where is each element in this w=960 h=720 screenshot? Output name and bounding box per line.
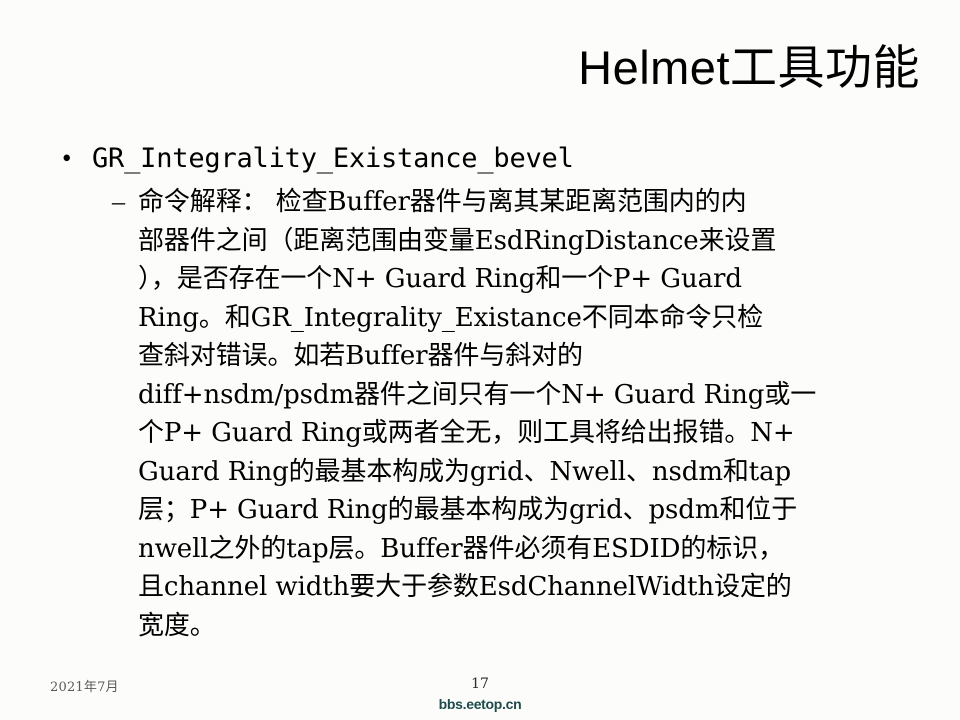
slide-body: • GR_Integrality_Existance_bevel – 命令解释：… (0, 140, 960, 645)
bullet-level1: • GR_Integrality_Existance_bevel (0, 140, 960, 177)
bullet-dot-icon: • (62, 140, 92, 176)
body-line: 部器件之间（距离范围由变量EsdRingDistance来设置 (138, 222, 960, 261)
watermark: bbs.eetop.cn (0, 696, 960, 712)
body-line: ），是否存在一个N+ Guard Ring和一个P+ Guard (138, 260, 960, 299)
page-title: Helmet工具功能 (578, 43, 920, 92)
bullet-level2: – 命令解释： 检查Buffer器件与离其某距离范围内的内 部器件之间（距离范围… (0, 183, 960, 645)
body-line: Guard Ring的最基本构成为grid、Nwell、nsdm和tap (138, 453, 960, 492)
body-line: diff+nsdm/psdm器件之间只有一个N+ Guard Ring或一 (138, 376, 960, 415)
body-line: Ring。和GR_Integrality_Existance不同本命令只检 (138, 299, 960, 338)
body-line: 层；P+ Guard Ring的最基本构成为grid、psdm和位于 (138, 491, 960, 530)
bullet-dash-icon: – (112, 183, 138, 222)
body-line: nwell之外的tap层。Buffer器件必须有ESDID的标识， (138, 530, 960, 569)
body-line: 查斜对错误。如若Buffer器件与斜对的 (138, 337, 960, 376)
bullet-level2-lines: 命令解释： 检查Buffer器件与离其某距离范围内的内 部器件之间（距离范围由变… (138, 183, 960, 645)
body-line: 命令解释： 检查Buffer器件与离其某距离范围内的内 (138, 183, 960, 222)
body-line: 且channel width要大于参数EsdChannelWidth设定的 (138, 568, 960, 607)
title-area: Helmet工具功能 (40, 28, 920, 108)
body-line: 个P+ Guard Ring或两者全无，则工具将给出报错。N+ (138, 414, 960, 453)
bullet-level1-label: GR_Integrality_Existance_bevel (92, 141, 574, 177)
slide-canvas: Helmet工具功能 • GR_Integrality_Existance_be… (0, 0, 960, 720)
page-number: 17 (0, 676, 960, 692)
body-line: 宽度。 (138, 607, 960, 646)
